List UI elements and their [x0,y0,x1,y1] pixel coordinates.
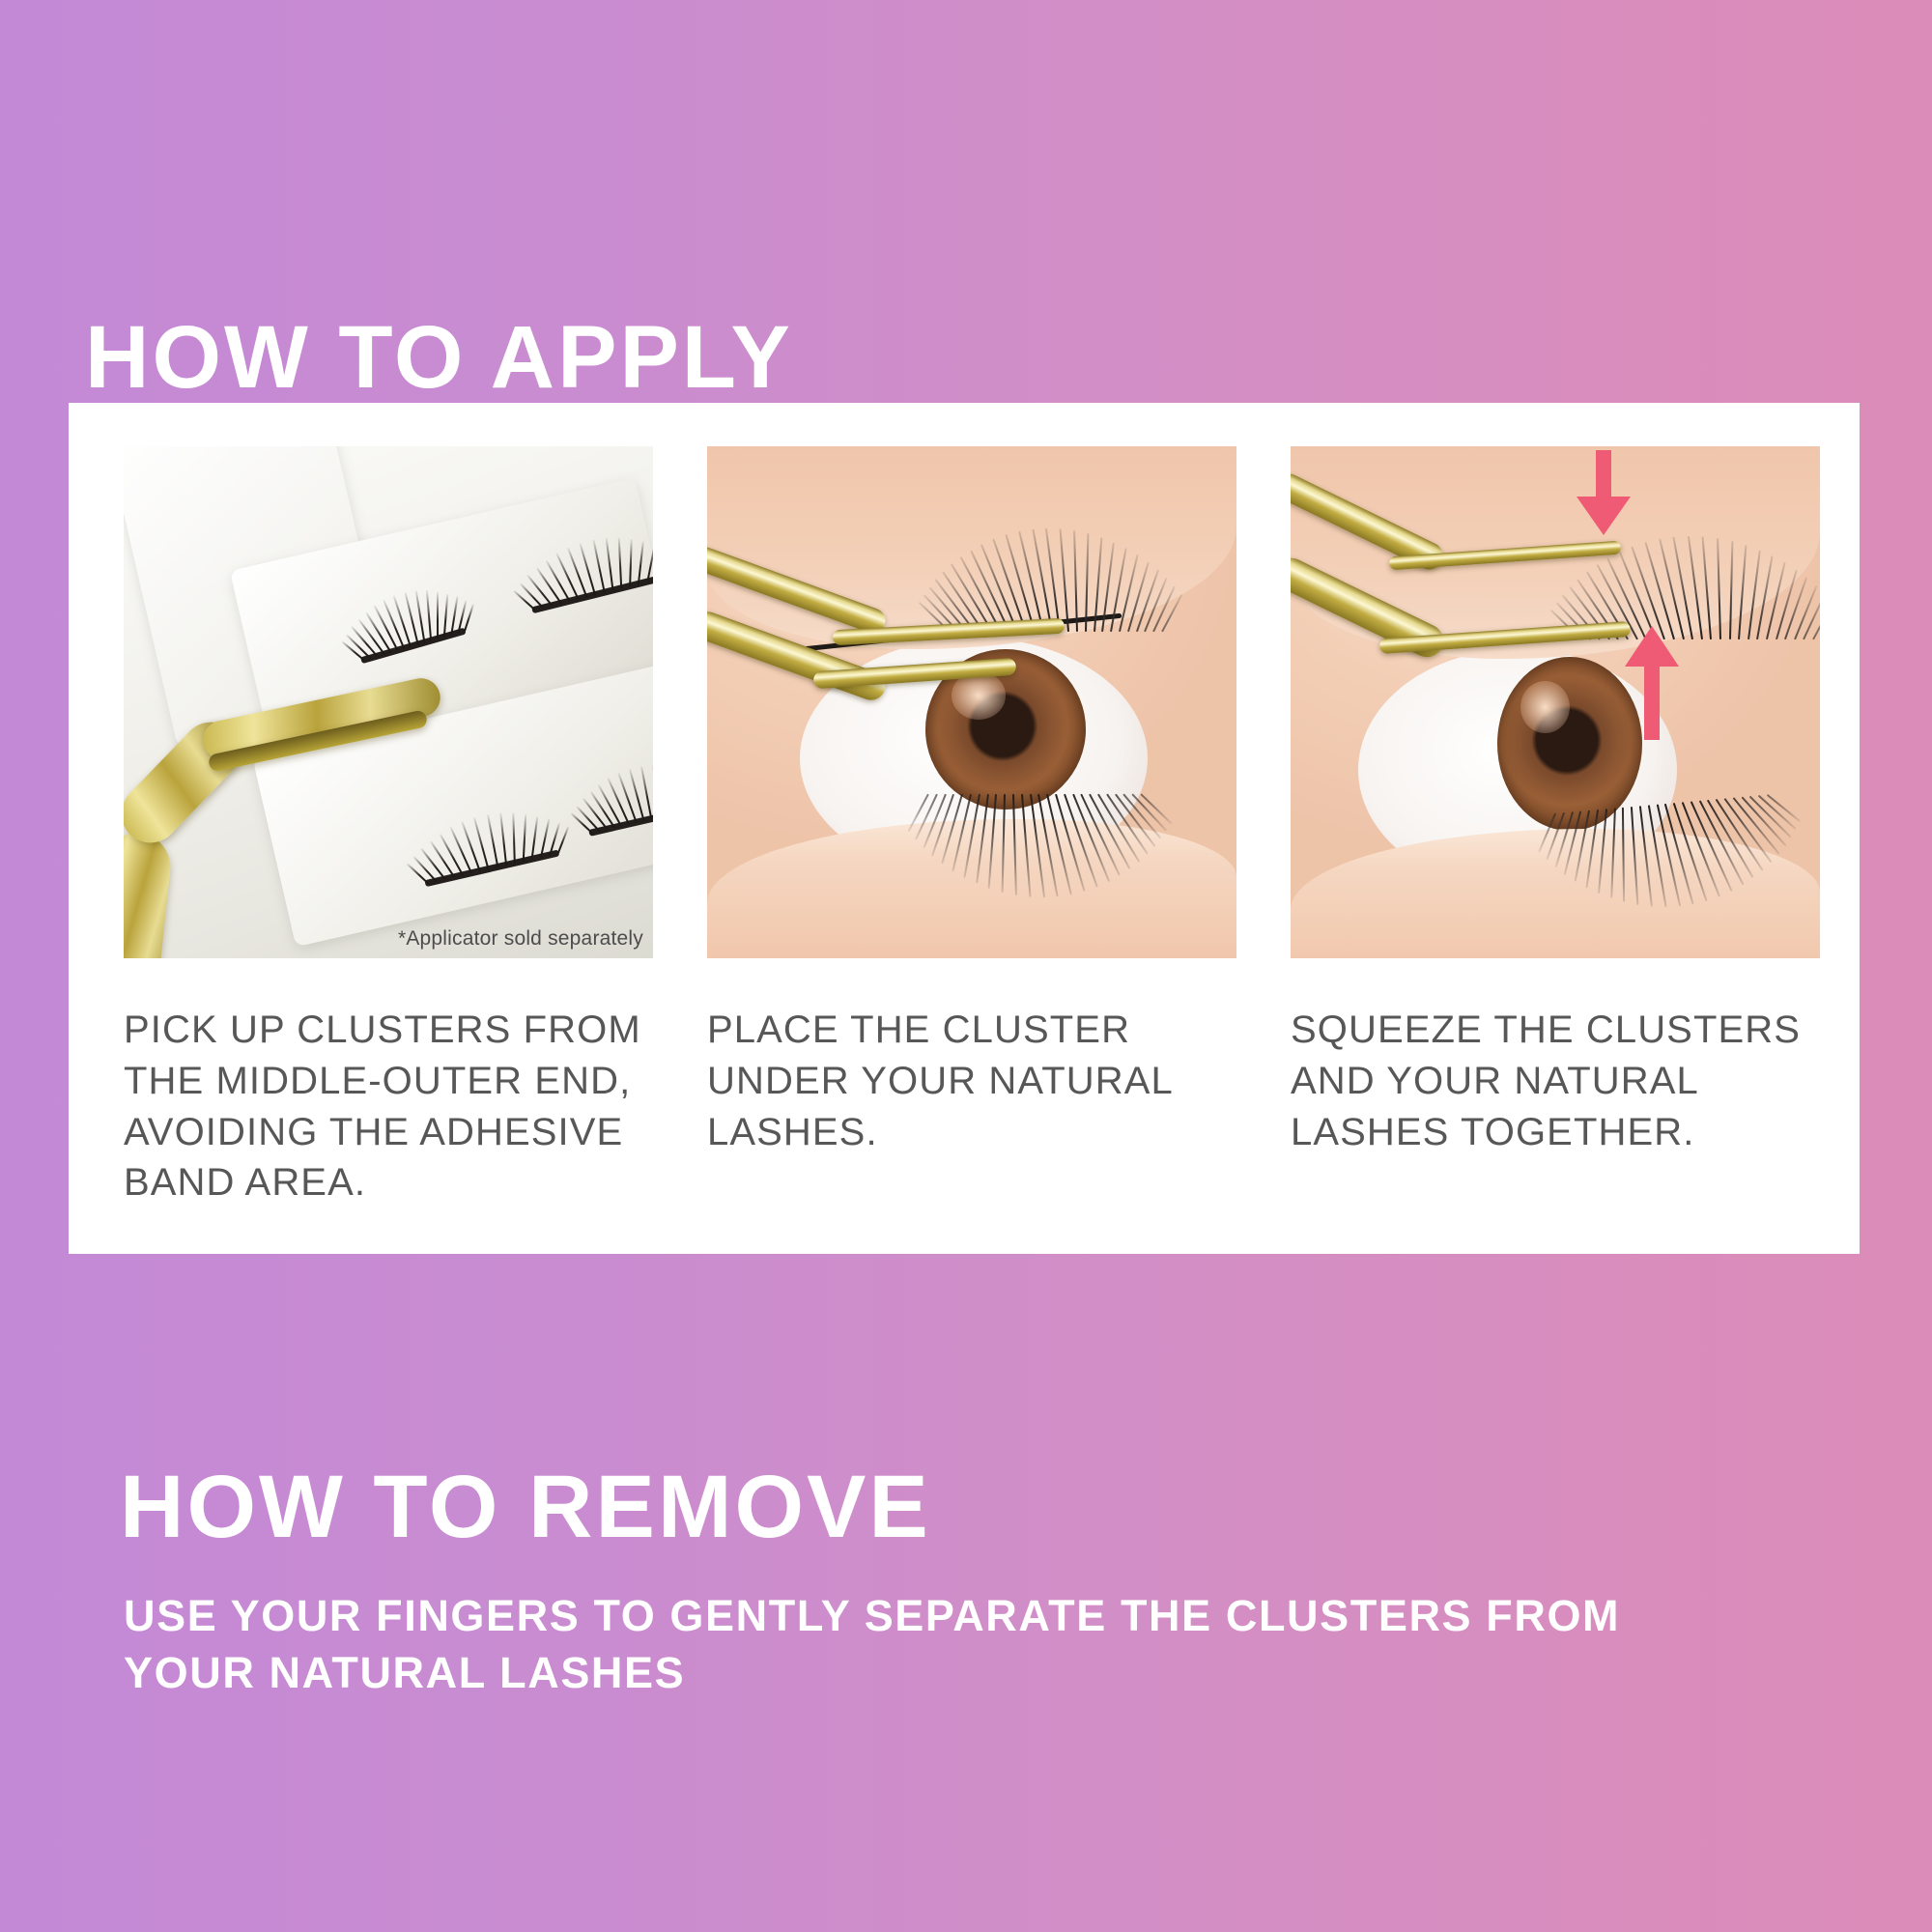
step-1-photo: *Applicator sold separately [124,446,653,958]
natural-lash-fan-lower [1556,795,1778,929]
apply-steps-row: *Applicator sold separately PICK UP CLUS… [124,446,1804,1208]
apply-steps-panel: *Applicator sold separately PICK UP CLUS… [69,403,1860,1254]
step-3-photo [1291,446,1820,958]
step-3-caption: SQUEEZE THE CLUSTERS AND YOUR NATURAL LA… [1291,1005,1820,1157]
step-2-photo [707,446,1236,958]
applicator-footnote: *Applicator sold separately [398,927,643,951]
step-1-caption: PICK UP CLUSTERS FROM THE MIDDLE-OUTER E… [124,1005,653,1208]
page-title-how-to-remove: HOW TO REMOVE [120,1463,931,1551]
arrow-up-icon [1619,626,1687,742]
arrow-down-icon [1569,450,1636,537]
natural-lash-fan-lower [929,794,1142,910]
remove-instructions: USE YOUR FINGERS TO GENTLY SEPARATE THE … [124,1587,1708,1702]
apply-step-3: SQUEEZE THE CLUSTERS AND YOUR NATURAL LA… [1291,446,1820,1208]
page-title-how-to-apply: HOW TO APPLY [85,313,793,402]
how-to-poster: HOW TO APPLY [0,0,1932,1932]
gold-applicator-tip [707,553,1094,726]
step-2-caption: PLACE THE CLUSTER UNDER YOUR NATURAL LAS… [707,1005,1236,1157]
gold-applicator-tweezer [124,591,471,958]
apply-step-1: *Applicator sold separately PICK UP CLUS… [124,446,653,1208]
apply-step-2: PLACE THE CLUSTER UNDER YOUR NATURAL LAS… [707,446,1236,1208]
